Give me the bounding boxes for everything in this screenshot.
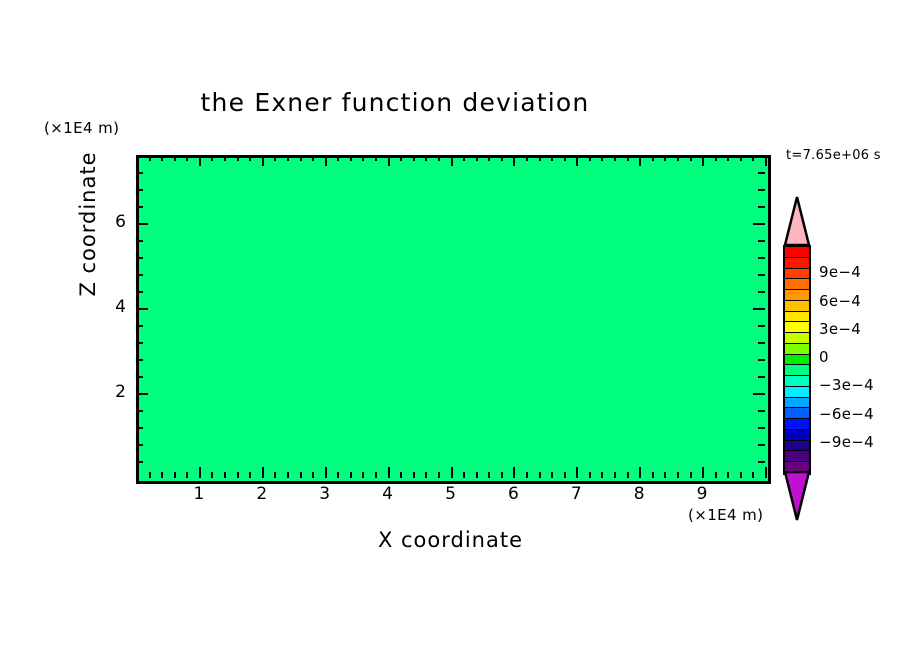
x-major-tick-top [765,155,767,166]
y-minor-tick-right [758,206,765,208]
colorbar-tick-label: −6e−4 [819,405,874,423]
colorbar-band [785,301,809,312]
y-major-tick-left [136,308,148,310]
y-minor-tick-left [136,427,143,429]
x-minor-tick-bottom [174,472,176,478]
y-minor-tick-left [136,189,143,191]
x-minor-tick-bottom [438,472,440,478]
x-minor-tick-bottom [312,472,314,478]
colorbar-tick-label: 0 [819,348,829,366]
colorbar-band [785,441,809,452]
x-axis-unit-label: (×1E4 m) [688,506,763,524]
x-major-tick-bottom [576,467,578,478]
x-minor-tick-bottom [677,472,679,478]
x-minor-tick-bottom [186,472,188,478]
x-minor-tick-bottom [211,472,213,478]
x-major-tick-top [702,155,704,166]
x-minor-tick-bottom [564,472,566,478]
colorbar-tick-label: 9e−4 [819,263,861,281]
x-minor-tick-bottom [249,472,251,478]
x-major-tick-top [576,155,578,166]
x-minor-tick-bottom [551,472,553,478]
x-minor-tick-top [752,155,754,161]
colorbar: 9e−46e−43e−40−3e−4−6e−4−9e−4 [783,196,809,520]
colorbar-tick-label: −9e−4 [819,433,874,451]
x-minor-tick-top [551,155,553,161]
x-major-tick-bottom [388,467,390,478]
x-tick-label: 4 [373,484,403,504]
y-minor-tick-right [758,257,765,259]
x-minor-tick-top [350,155,352,161]
y-minor-tick-left [136,342,143,344]
x-tick-label: 9 [687,484,717,504]
colorbar-tick-label: −3e−4 [819,376,874,394]
colorbar-band [785,247,809,258]
x-minor-tick-bottom [589,472,591,478]
y-minor-tick-right [758,325,765,327]
x-minor-tick-bottom [740,472,742,478]
contour-field-canvas [139,158,768,481]
colorbar-tick-label: 3e−4 [819,320,861,338]
x-minor-tick-bottom [463,472,465,478]
y-minor-tick-right [758,444,765,446]
y-tick-label: 2 [100,382,126,402]
colorbar-band [785,365,809,376]
y-minor-tick-left [136,206,143,208]
x-minor-tick-top [400,155,402,161]
y-minor-tick-left [136,376,143,378]
y-minor-tick-right [758,427,765,429]
x-minor-tick-top [237,155,239,161]
x-minor-tick-top [287,155,289,161]
x-major-tick-top [199,155,201,166]
colorbar-band [785,398,809,409]
y-minor-tick-left [136,257,143,259]
x-minor-tick-top [715,155,717,161]
x-minor-tick-top [488,155,490,161]
x-minor-tick-top [211,155,213,161]
colorbar-band [785,312,809,323]
x-minor-tick-top [413,155,415,161]
x-minor-tick-top [526,155,528,161]
colorbar-under-arrow-icon [783,471,811,521]
x-tick-label: 5 [436,484,466,504]
colorbar-bands [783,245,811,475]
x-tick-label: 3 [310,484,340,504]
x-minor-tick-top [375,155,377,161]
y-minor-tick-right [758,172,765,174]
x-major-tick-bottom [199,467,201,478]
x-minor-tick-bottom [752,472,754,478]
colorbar-over-arrow-icon [783,196,811,246]
x-minor-tick-bottom [664,472,666,478]
x-tick-label: 2 [247,484,277,504]
y-minor-tick-right [758,240,765,242]
y-minor-tick-right [758,291,765,293]
colorbar-band [785,290,809,301]
colorbar-band [785,258,809,269]
x-minor-tick-top [664,155,666,161]
x-minor-tick-bottom [237,472,239,478]
x-minor-tick-bottom [274,472,276,478]
x-minor-tick-top [727,155,729,161]
x-minor-tick-top [362,155,364,161]
x-minor-tick-bottom [727,472,729,478]
x-minor-tick-top [589,155,591,161]
x-minor-tick-bottom [300,472,302,478]
y-minor-tick-right [758,461,765,463]
contour-plot-area [136,155,771,484]
colorbar-band [785,333,809,344]
x-minor-tick-top [149,155,151,161]
x-tick-label: 1 [184,484,214,504]
x-minor-tick-bottom [413,472,415,478]
x-minor-tick-top [161,155,163,161]
y-minor-tick-right [758,342,765,344]
x-minor-tick-top [564,155,566,161]
x-minor-tick-bottom [362,472,364,478]
y-major-tick-right [753,223,765,225]
x-minor-tick-top [186,155,188,161]
x-major-tick-bottom [639,467,641,478]
x-minor-tick-top [425,155,427,161]
y-minor-tick-left [136,461,143,463]
x-minor-tick-bottom [400,472,402,478]
x-major-tick-bottom [451,467,453,478]
y-minor-tick-right [758,189,765,191]
x-minor-tick-top [463,155,465,161]
y-major-tick-left [136,393,148,395]
x-minor-tick-top [677,155,679,161]
x-minor-tick-bottom [287,472,289,478]
colorbar-band [785,419,809,430]
colorbar-band [785,430,809,441]
colorbar-band [785,322,809,333]
x-minor-tick-top [740,155,742,161]
x-minor-tick-bottom [652,472,654,478]
x-minor-tick-top [652,155,654,161]
x-minor-tick-top [539,155,541,161]
y-minor-tick-left [136,274,143,276]
colorbar-band [785,279,809,290]
x-minor-tick-bottom [375,472,377,478]
x-minor-tick-bottom [690,472,692,478]
x-tick-label: 7 [561,484,591,504]
x-minor-tick-bottom [149,472,151,478]
x-minor-tick-top [274,155,276,161]
x-tick-label: 8 [624,484,654,504]
x-minor-tick-top [690,155,692,161]
x-minor-tick-top [476,155,478,161]
x-minor-tick-top [614,155,616,161]
x-major-tick-top [325,155,327,166]
x-minor-tick-top [312,155,314,161]
x-minor-tick-bottom [224,472,226,478]
x-minor-tick-bottom [337,472,339,478]
x-minor-tick-top [601,155,603,161]
colorbar-band [785,408,809,419]
x-major-tick-bottom [765,467,767,478]
y-major-tick-left [136,223,148,225]
x-minor-tick-top [627,155,629,161]
x-minor-tick-bottom [161,472,163,478]
x-minor-tick-top [224,155,226,161]
page-title: the Exner function deviation [0,88,790,117]
y-major-tick-right [753,308,765,310]
x-major-tick-bottom [513,467,515,478]
colorbar-band [785,387,809,398]
x-minor-tick-top [174,155,176,161]
x-minor-tick-bottom [425,472,427,478]
x-minor-tick-bottom [350,472,352,478]
x-minor-tick-bottom [614,472,616,478]
y-minor-tick-left [136,291,143,293]
colorbar-band [785,376,809,387]
x-minor-tick-top [249,155,251,161]
timestamp-annotation: t=7.65e+06 s [786,148,881,163]
x-minor-tick-top [438,155,440,161]
y-minor-tick-left [136,444,143,446]
y-minor-tick-right [758,274,765,276]
x-minor-tick-bottom [488,472,490,478]
y-minor-tick-left [136,359,143,361]
x-minor-tick-top [337,155,339,161]
x-tick-label: 6 [498,484,528,504]
x-minor-tick-top [501,155,503,161]
x-minor-tick-bottom [627,472,629,478]
x-minor-tick-bottom [601,472,603,478]
y-minor-tick-left [136,410,143,412]
x-axis-title: X coordinate [136,528,765,552]
colorbar-tick-label: 6e−4 [819,292,861,310]
y-minor-tick-right [758,359,765,361]
x-major-tick-top [262,155,264,166]
x-minor-tick-bottom [526,472,528,478]
x-minor-tick-bottom [715,472,717,478]
y-axis-title: Z coordinate [76,114,100,334]
colorbar-band [785,344,809,355]
y-minor-tick-left [136,172,143,174]
x-minor-tick-top [300,155,302,161]
x-minor-tick-bottom [476,472,478,478]
y-minor-tick-right [758,376,765,378]
y-minor-tick-right [758,410,765,412]
y-minor-tick-left [136,240,143,242]
x-major-tick-top [513,155,515,166]
colorbar-band [785,269,809,280]
x-major-tick-bottom [702,467,704,478]
colorbar-band [785,355,809,366]
x-major-tick-bottom [262,467,264,478]
y-tick-label: 6 [100,212,126,232]
colorbar-band [785,451,809,462]
y-major-tick-right [753,393,765,395]
y-minor-tick-left [136,325,143,327]
x-major-tick-top [388,155,390,166]
x-major-tick-bottom [325,467,327,478]
x-major-tick-top [639,155,641,166]
y-tick-label: 4 [100,297,126,317]
x-minor-tick-bottom [501,472,503,478]
x-minor-tick-bottom [539,472,541,478]
x-major-tick-top [451,155,453,166]
